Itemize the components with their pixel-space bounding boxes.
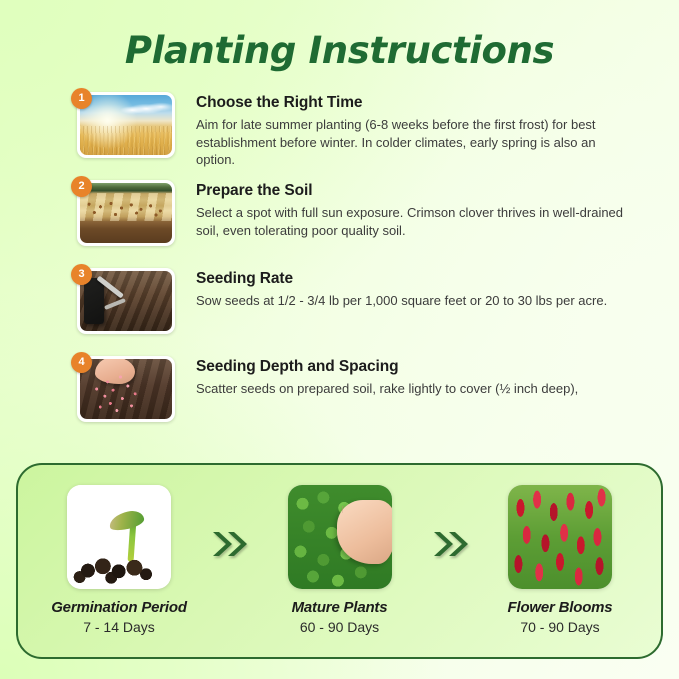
seed-specks [80, 359, 172, 419]
growth-timeline-panel: Germination Period 7 - 14 Days Mature Pl… [16, 463, 663, 659]
wheat-scene [80, 95, 172, 155]
soil-scene [80, 271, 172, 331]
step-item: 4 Seeding Depth and Spacing Scatter seed… [71, 352, 671, 440]
step-number-badge: 2 [71, 176, 92, 197]
hand-shape [337, 500, 391, 564]
planting-instructions-infographic: Planting Instructions 1 Choose the Right… [0, 0, 679, 679]
wheat-grain-texture [80, 126, 172, 155]
step-text: Prepare the Soil Select a spot with full… [196, 176, 632, 239]
tool-head-shape [104, 298, 126, 310]
stage-title: Flower Blooms [485, 598, 635, 617]
step-thumbnail-wrap: 4 [71, 352, 175, 424]
step-thumbnail-wrap: 3 [71, 264, 175, 336]
sprout-scene [67, 485, 171, 589]
green-clover-leaves-hand-photo [288, 485, 392, 589]
double-chevron-right-icon [206, 524, 252, 564]
boot-shape [84, 278, 104, 324]
step-body: Scatter seeds on prepared soil, rake lig… [196, 380, 578, 398]
field-scene [80, 183, 172, 243]
step-heading: Choose the Right Time [196, 93, 632, 112]
stage-title: Mature Plants [265, 598, 415, 617]
step-number-badge: 1 [71, 88, 92, 109]
step-number-badge: 3 [71, 264, 92, 285]
step-item: 3 Seeding Rate Sow seeds at 1/2 - 3/4 lb… [71, 264, 671, 352]
page-title: Planting Instructions [0, 29, 679, 73]
step-thumbnail-frame [77, 268, 175, 334]
bloom-scene [508, 485, 612, 589]
step-text: Choose the Right Time Aim for late summe… [196, 88, 632, 169]
stage-title: Germination Period [44, 598, 194, 617]
step-thumbnail-frame [77, 92, 175, 158]
timeline-stage: Flower Blooms 70 - 90 Days [485, 485, 635, 637]
step-heading: Seeding Rate [196, 269, 607, 288]
hand-scattering-seeds-photo [80, 359, 172, 419]
step-thumbnail-frame [77, 356, 175, 422]
step-text: Seeding Depth and Spacing Scatter seeds … [196, 352, 578, 398]
step-item: 1 Choose the Right Time Aim for late sum… [71, 88, 671, 176]
sprouting-seedling-photo [67, 485, 171, 589]
soil-pile [73, 549, 156, 584]
timeline-stage: Germination Period 7 - 14 Days [44, 485, 194, 637]
step-number-badge: 4 [71, 352, 92, 373]
step-body: Select a spot with full sun exposure. Cr… [196, 204, 632, 239]
step-heading: Seeding Depth and Spacing [196, 357, 578, 376]
timeline-stage: Mature Plants 60 - 90 Days [265, 485, 415, 637]
step-thumbnail-wrap: 1 [71, 88, 175, 160]
step-body: Sow seeds at 1/2 - 3/4 lb per 1,000 squa… [196, 292, 607, 310]
stage-duration: 70 - 90 Days [485, 618, 635, 637]
step-thumbnail-frame [77, 180, 175, 246]
crimson-clover-blooms-photo [508, 485, 612, 589]
wheat-field-sunrise-photo [80, 95, 172, 155]
step-thumbnail-wrap: 2 [71, 176, 175, 248]
step-heading: Prepare the Soil [196, 181, 632, 200]
steps-list: 1 Choose the Right Time Aim for late sum… [71, 88, 671, 440]
harvested-field-hay-bales-photo [80, 183, 172, 243]
step-body: Aim for late summer planting (6-8 weeks … [196, 116, 632, 169]
seeds-scene [80, 359, 172, 419]
stage-duration: 60 - 90 Days [265, 618, 415, 637]
tilled-soil-boot-tool-photo [80, 271, 172, 331]
clover-scene [288, 485, 392, 589]
stage-duration: 7 - 14 Days [44, 618, 194, 637]
sprout-leaf [107, 509, 145, 533]
double-chevron-right-icon [427, 524, 473, 564]
step-item: 2 Prepare the Soil Select a spot with fu… [71, 176, 671, 264]
step-text: Seeding Rate Sow seeds at 1/2 - 3/4 lb p… [196, 264, 607, 310]
